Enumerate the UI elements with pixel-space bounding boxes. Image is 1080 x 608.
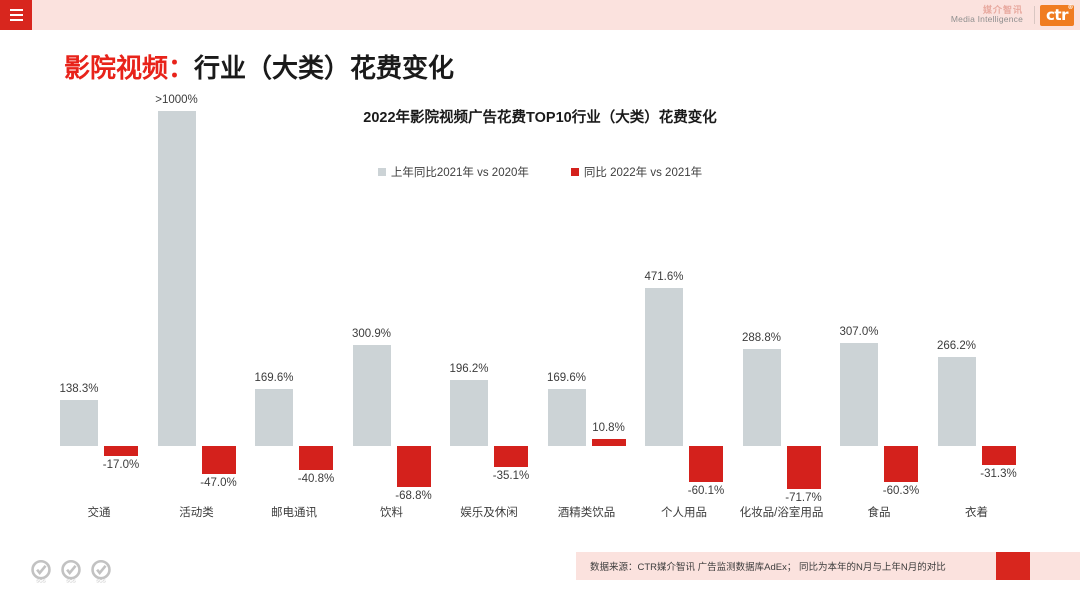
- brand-divider: [1034, 6, 1035, 24]
- bar-current-year[interactable]: [104, 446, 138, 456]
- bar-current-year[interactable]: [787, 446, 821, 489]
- bar-value-label-prior-year: 169.6%: [234, 372, 314, 384]
- bar-prior-year[interactable]: [353, 345, 391, 446]
- sgs-certification-icon: SGS: [28, 558, 54, 584]
- bar-value-label-prior-year: 138.3%: [39, 383, 119, 395]
- svg-text:SGS: SGS: [96, 579, 106, 584]
- bar-prior-year[interactable]: [938, 357, 976, 446]
- legend-item-current-year[interactable]: 同比 2022年 vs 2021年: [571, 164, 702, 180]
- legend-label-prior-year: 上年同比2021年 vs 2020年: [391, 164, 529, 180]
- bar-current-year[interactable]: [884, 446, 918, 482]
- bar-group: 288.8%-71.7%化妆品/浴室用品: [743, 200, 821, 500]
- legend-item-prior-year[interactable]: 上年同比2021年 vs 2020年: [378, 164, 529, 180]
- page-title-main: 行业（大类）花费变化: [194, 53, 454, 83]
- bar-prior-year[interactable]: [255, 389, 293, 446]
- bar-prior-year[interactable]: [158, 111, 196, 446]
- bar-current-year[interactable]: [592, 439, 626, 446]
- top-bar: 媒介智讯 Media Intelligence ctr®: [0, 0, 1080, 30]
- bar-value-label-prior-year: >1000%: [137, 94, 217, 106]
- svg-text:SGS: SGS: [36, 579, 46, 584]
- legend-swatch-red: [571, 168, 579, 176]
- bar-value-label-prior-year: 266.2%: [917, 340, 997, 352]
- bar-value-label-current-year: -17.0%: [81, 459, 161, 471]
- bar-value-label-prior-year: 169.6%: [527, 372, 607, 384]
- bar-group: 300.9%-68.8%饮料: [353, 200, 431, 500]
- bar-group: 169.6%-40.8%邮电通讯: [255, 200, 333, 500]
- certification-logos: SGS SGS SGS: [28, 558, 114, 584]
- bar-current-year[interactable]: [982, 446, 1016, 465]
- bar-value-label-current-year: -35.1%: [471, 470, 551, 482]
- bar-current-year[interactable]: [494, 446, 528, 467]
- bar-value-label-current-year: -40.8%: [276, 473, 356, 485]
- bar-value-label-prior-year: 307.0%: [819, 326, 899, 338]
- bar-group: 138.3%-17.0%交通: [60, 200, 138, 500]
- bar-prior-year[interactable]: [60, 400, 98, 446]
- bar-current-year[interactable]: [689, 446, 723, 482]
- bar-value-label-prior-year: 288.8%: [722, 332, 802, 344]
- bar-value-label-current-year: -68.8%: [374, 490, 454, 502]
- bar-value-label-current-year: 10.8%: [569, 422, 649, 434]
- slide-page: 媒介智讯 Media Intelligence ctr® 影院视频：行业（大类）…: [0, 0, 1080, 608]
- footer-source-note: 数据来源：CTR媒介智讯 广告监测数据库AdEx； 同比为本年的N月与上年N月的…: [590, 552, 946, 580]
- bar-group: 307.0%-60.3%食品: [840, 200, 918, 500]
- bar-group: 471.6%-60.1%个人用品: [645, 200, 723, 500]
- page-title-prefix: 影院视频：: [64, 53, 194, 83]
- bar-group: 169.6%10.8%酒精类饮品: [548, 200, 626, 500]
- chart-plot-area: 138.3%-17.0%交通>1000%-47.0%活动类169.6%-40.8…: [0, 200, 1080, 500]
- bar-value-label-current-year: -60.3%: [861, 485, 941, 497]
- ctr-logo-mark: ctr®: [1040, 5, 1074, 26]
- bar-current-year[interactable]: [202, 446, 236, 474]
- bar-prior-year[interactable]: [840, 343, 878, 446]
- bar-prior-year[interactable]: [645, 288, 683, 446]
- svg-text:SGS: SGS: [66, 579, 76, 584]
- bar-group: 196.2%-35.1%娱乐及休闲: [450, 200, 528, 500]
- bar-value-label-prior-year: 471.6%: [624, 271, 704, 283]
- legend-label-current-year: 同比 2022年 vs 2021年: [584, 164, 702, 180]
- bar-value-label-current-year: -60.1%: [666, 485, 746, 497]
- bar-value-label-prior-year: 300.9%: [332, 328, 412, 340]
- brand-name-en: Media Intelligence: [951, 15, 1023, 24]
- page-title: 影院视频：行业（大类）花费变化: [64, 48, 454, 85]
- bar-prior-year[interactable]: [548, 389, 586, 446]
- bar-value-label-current-year: -71.7%: [764, 492, 844, 504]
- sgs-certification-icon: SGS: [58, 558, 84, 584]
- category-label: 衣着: [917, 504, 1037, 520]
- brand-logo: 媒介智讯 Media Intelligence ctr®: [951, 2, 1074, 28]
- registered-trademark-icon: ®: [1068, 4, 1074, 11]
- sgs-certification-icon: SGS: [88, 558, 114, 584]
- bar-group: 266.2%-31.3%衣着: [938, 200, 1016, 500]
- hamburger-menu-icon[interactable]: [0, 0, 32, 30]
- bar-value-label-current-year: -31.3%: [959, 468, 1039, 480]
- bar-value-label-current-year: -47.0%: [179, 477, 259, 489]
- bar-prior-year[interactable]: [743, 349, 781, 446]
- legend-swatch-gray: [378, 168, 386, 176]
- bar-prior-year[interactable]: [450, 380, 488, 446]
- bar-value-label-prior-year: 196.2%: [429, 363, 509, 375]
- ctr-logo-text: ctr: [1046, 6, 1068, 24]
- bar-group: >1000%-47.0%活动类: [158, 200, 236, 500]
- footer-accent-square: [996, 552, 1030, 580]
- bar-current-year[interactable]: [299, 446, 333, 470]
- bar-current-year[interactable]: [397, 446, 431, 487]
